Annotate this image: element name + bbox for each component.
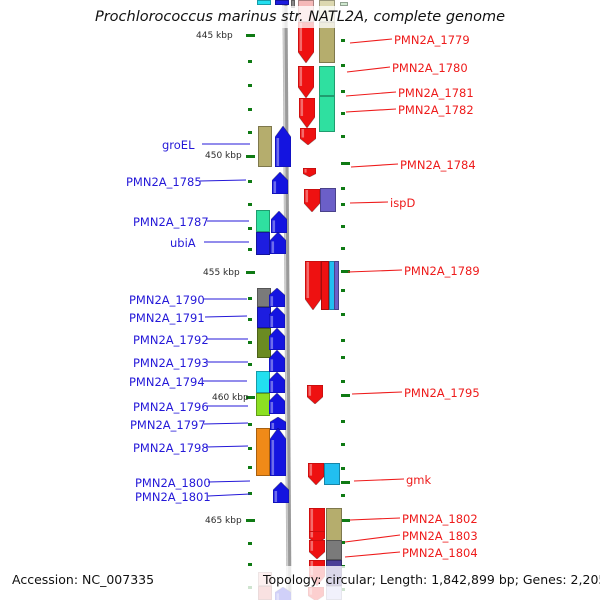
gene-arrow-forward[interactable] [304,189,320,212]
leader-line-right [348,199,390,206]
gene-label-right[interactable]: PMN2A_1782 [398,103,474,117]
scale-label: 455 kbp [203,268,240,278]
leader-line-right [349,161,400,170]
gene-arrow-forward[interactable] [309,528,325,540]
gene-label-left[interactable]: PMN2A_1790 [129,293,205,307]
tick-mark-right [341,380,345,383]
leader-line-left [202,239,251,245]
feature-color-box[interactable] [256,371,270,393]
gene-label-right[interactable]: PMN2A_1804 [402,546,478,560]
leader-line-left [205,359,250,365]
gene-arrow-forward[interactable] [309,540,325,559]
gene-arrow-reverse[interactable] [270,232,286,254]
gene-arrow-forward[interactable] [307,385,323,404]
leader-line-right [343,549,402,560]
gene-arrow-reverse[interactable] [270,428,286,476]
gene-arrow-forward[interactable] [305,261,321,310]
feature-color-box[interactable] [258,126,272,167]
gene-arrow-forward[interactable] [299,98,315,128]
gene-arrow-forward[interactable] [303,162,316,171]
leader-line-right [350,389,404,397]
feature-color-box[interactable] [319,22,335,63]
leader-line-left [204,443,250,450]
tick-mark-left [248,108,252,111]
leader-line-right [344,89,398,99]
clipped-feature-box [275,0,289,5]
gene-label-right[interactable]: PMN2A_1803 [402,529,478,543]
tick-mark-left [246,519,255,522]
feature-color-box[interactable] [256,232,270,255]
gene-label-left[interactable]: PMN2A_1792 [133,333,209,347]
gene-label-right[interactable]: ispD [390,196,415,210]
tick-mark-right [341,481,350,484]
gene-label-left[interactable]: PMN2A_1798 [133,441,209,455]
leader-line-right [348,36,394,46]
feature-color-box[interactable] [324,463,340,485]
leader-line-left [205,218,251,224]
tick-mark-right [341,467,345,470]
tick-mark-left [246,155,255,158]
gene-label-left[interactable]: PMN2A_1793 [133,356,209,370]
feature-color-box[interactable] [319,96,335,132]
tick-mark-right [341,39,345,42]
tick-mark-right [341,394,350,397]
tick-mark-right [341,420,345,423]
feature-color-box[interactable] [334,261,339,310]
gene-label-left[interactable]: PMN2A_1794 [129,375,205,389]
gene-label-left[interactable]: PMN2A_1796 [133,400,209,414]
tick-mark-right [341,313,345,316]
tick-mark-left [248,248,252,251]
gene-arrow-forward[interactable] [300,128,316,145]
tick-mark-left [248,131,252,134]
leader-line-left [205,336,250,342]
tick-mark-right [341,494,345,497]
page-title: Prochlorococcus marinus str. NATL2A, com… [0,9,600,25]
feature-color-box[interactable] [321,261,329,310]
leader-line-left [204,403,250,409]
feature-color-box[interactable] [326,540,342,560]
gene-label-left[interactable]: ubiA [170,236,196,250]
gene-label-left[interactable]: groEL [162,138,194,152]
leader-line-left [206,478,252,485]
tick-mark-right [341,135,345,138]
gene-label-left[interactable]: PMN2A_1800 [135,476,211,490]
gene-arrow-forward[interactable] [308,463,324,485]
gene-label-left[interactable]: PMN2A_1785 [126,175,202,189]
tick-mark-left [248,84,252,87]
scale-label: 450 kbp [205,151,242,161]
gene-arrow-reverse[interactable] [269,288,285,307]
gene-arrow-reverse[interactable] [270,415,286,428]
gene-label-right[interactable]: PMN2A_1780 [392,61,468,75]
tick-mark-right [341,247,345,250]
gene-label-right[interactable]: PMN2A_1789 [404,264,480,278]
genome-map-viewer: 445 kbp450 kbp455 kbp460 kbp465 kbp groE… [0,0,600,600]
genome-summary-text: Topology: circular; Length: 1,842,899 bp… [263,572,600,587]
gene-label-right[interactable]: PMN2A_1781 [398,86,474,100]
leader-line-right [346,267,404,275]
tick-mark-left [248,542,252,545]
leader-line-left [198,177,248,184]
feature-color-box[interactable] [319,66,335,96]
leader-line-right [352,476,406,484]
feature-color-box[interactable] [256,393,270,416]
gene-arrow-reverse[interactable] [275,126,291,167]
gene-label-right[interactable]: PMN2A_1779 [394,33,470,47]
tick-mark-left [248,60,252,63]
gene-arrow-reverse[interactable] [269,328,285,350]
gene-label-right[interactable]: PMN2A_1795 [404,386,480,400]
gene-label-left[interactable]: PMN2A_1787 [133,215,209,229]
tick-mark-right [341,356,345,359]
gene-arrow-reverse[interactable] [269,372,285,393]
gene-label-right[interactable]: gmk [406,473,431,487]
gene-arrow-forward[interactable] [298,66,314,98]
tick-mark-left [248,180,252,183]
gene-label-left[interactable]: PMN2A_1791 [129,311,205,325]
leader-line-left [202,420,250,427]
tick-mark-left [248,227,252,230]
tick-mark-left [246,34,255,37]
leader-line-left [201,378,249,384]
gene-arrow-reverse[interactable] [271,211,287,233]
leader-line-left [200,141,252,147]
leader-line-left [203,313,249,320]
feature-color-box[interactable] [256,428,270,476]
tick-mark-right [341,443,345,446]
gene-arrow-reverse[interactable] [269,350,285,372]
clipped-feature-box [257,0,271,5]
feature-color-box[interactable] [320,188,336,212]
gene-arrow-forward[interactable] [298,22,314,63]
scale-label: 460 kbp [212,393,249,403]
tick-mark-left [248,203,252,206]
gene-arrow-reverse[interactable] [269,393,285,414]
leader-line-right [348,515,402,523]
gene-label-left[interactable]: PMN2A_1801 [135,490,211,504]
leader-line-right [343,532,402,545]
tick-mark-right [341,187,345,190]
accession-text: Accession: NC_007335 [12,572,154,587]
scale-label: 465 kbp [205,516,242,526]
feature-color-box[interactable] [256,210,270,232]
leader-line-left [206,491,252,499]
scale-label: 445 kbp [196,31,233,41]
tick-mark-right [341,289,345,292]
tick-mark-right [341,339,345,342]
gene-arrow-reverse[interactable] [273,482,289,503]
tick-mark-right [341,225,345,228]
tick-mark-left [246,271,255,274]
gene-arrow-reverse[interactable] [272,172,288,194]
gene-label-left[interactable]: PMN2A_1797 [130,418,206,432]
tick-mark-left [248,466,252,469]
gene-label-right[interactable]: PMN2A_1784 [400,158,476,172]
gene-arrow-reverse[interactable] [269,307,285,328]
leader-line-right [345,64,392,75]
gene-label-right[interactable]: PMN2A_1802 [402,512,478,526]
leader-line-left [201,296,249,302]
leader-line-right [344,106,398,115]
tick-mark-right [341,203,345,206]
